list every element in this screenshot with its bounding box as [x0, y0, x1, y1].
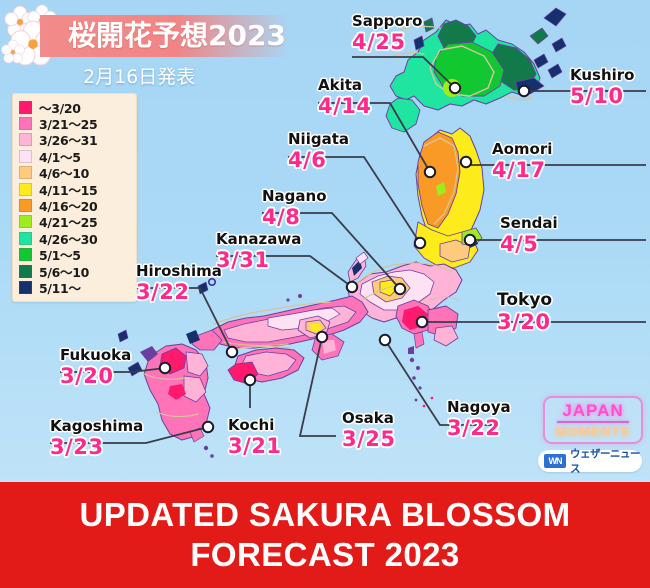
legend-item: 4/16〜20 [19, 197, 132, 213]
legend-swatch [19, 117, 32, 130]
callout-nagano: Nagano 4/8 [262, 189, 327, 228]
callout-akita: Akita 4/14 [318, 78, 372, 117]
legend-item: 〜3/20 [19, 99, 132, 115]
city-bloom-date: 3/22 [136, 281, 222, 303]
city-bloom-date: 3/25 [342, 428, 396, 450]
city-bloom-date: 4/17 [492, 159, 552, 181]
callout-aomori: Aomori 4/17 [492, 142, 552, 181]
callout-kagoshima: Kagoshima 3/23 [50, 419, 143, 458]
map-panel: 桜開花予想2023 2月16日発表 〜3/20 3/21〜25 3/26〜31 … [0, 0, 650, 482]
region-honshu-central [348, 252, 462, 407]
city-name: Nagano [262, 189, 327, 205]
legend-item: 4/21〜25 [19, 214, 132, 230]
legend-swatch [19, 133, 32, 146]
city-bloom-date: 4/6 [288, 149, 349, 171]
city-bloom-date: 4/25 [352, 31, 422, 53]
city-name: Kochi [228, 418, 282, 434]
city-name: Akita [318, 78, 372, 94]
legend-swatch [19, 101, 32, 114]
callout-nagoya: Nagoya 3/22 [447, 400, 511, 439]
legend-item: 4/6〜10 [19, 165, 132, 181]
legend-swatch [19, 215, 32, 228]
callout-kochi: Kochi 3/21 [228, 418, 282, 457]
city-name: Nagoya [447, 400, 511, 416]
city-bloom-date: 3/22 [447, 417, 511, 439]
city-name: Niigata [288, 132, 349, 148]
city-name: Fukuoka [60, 348, 131, 364]
city-name: Osaka [342, 411, 396, 427]
legend-item: 4/11〜15 [19, 181, 132, 197]
region-shikoku [228, 346, 304, 384]
bottom-banner: UPDATED SAKURA BLOSSOM FORECAST 2023 [0, 482, 650, 588]
legend-swatch [19, 281, 32, 294]
city-bloom-date: 4/8 [262, 206, 327, 228]
page-title: 桜開花予想2023 [68, 22, 286, 50]
legend-item: 5/11〜 [19, 279, 132, 295]
japan-moments-japan-text: JAPAN [562, 402, 623, 419]
callout-kanazawa: Kanazawa 3/31 [216, 232, 301, 271]
legend-item: 3/26〜31 [19, 132, 132, 148]
weathernews-label: ウェザーニュース [570, 446, 642, 476]
city-bloom-date: 5/10 [570, 85, 635, 107]
callout-sapporo: Sapporo 4/25 [352, 14, 422, 53]
callout-tokyo: Tokyo 3/20 [497, 292, 552, 333]
callout-osaka: Osaka 3/25 [342, 411, 396, 450]
city-bloom-date: 3/21 [228, 435, 282, 457]
callout-sendai: Sendai 4/5 [500, 216, 558, 255]
legend-swatch [19, 199, 32, 212]
city-name: Hiroshima [136, 264, 222, 280]
city-name: Kagoshima [50, 419, 143, 435]
legend-swatch [19, 248, 32, 261]
legend-swatch [19, 183, 32, 196]
legend-item: 5/1〜5 [19, 247, 132, 263]
city-bloom-date: 3/20 [497, 311, 552, 333]
city-name: Sapporo [352, 14, 422, 30]
weathernews-mark-icon: WN [544, 454, 566, 468]
city-name: Kanazawa [216, 232, 301, 248]
city-bloom-date: 3/20 [60, 365, 131, 387]
city-bloom-date: 4/14 [318, 95, 372, 117]
callout-fukuoka: Fukuoka 3/20 [60, 348, 131, 387]
sakura-forecast-infographic: 桜開花予想2023 2月16日発表 〜3/20 3/21〜25 3/26〜31 … [0, 0, 650, 588]
japan-moments-logo: JAPAN MOMENTS [543, 396, 643, 444]
legend-swatch [19, 150, 32, 163]
legend-swatch [19, 265, 32, 278]
publish-date-subtitle: 2月16日発表 [83, 62, 195, 89]
legend-label: 5/11〜 [39, 278, 81, 297]
region-tohoku [414, 128, 484, 268]
callout-kushiro: Kushiro 5/10 [570, 68, 635, 107]
legend-item: 4/1〜5 [19, 148, 132, 164]
city-bloom-date: 3/23 [50, 436, 143, 458]
city-name: Sendai [500, 216, 558, 232]
banner-line-1: UPDATED SAKURA BLOSSOM [80, 495, 571, 535]
callout-niigata: Niigata 4/6 [288, 132, 349, 171]
city-bloom-date: 4/5 [500, 233, 558, 255]
legend-item: 4/26〜30 [19, 230, 132, 246]
city-name: Tokyo [497, 292, 552, 310]
bloom-date-legend: 〜3/20 3/21〜25 3/26〜31 4/1〜5 4/6〜10 4/11〜… [12, 93, 137, 302]
legend-swatch [19, 232, 32, 245]
japan-moments-divider [557, 421, 629, 423]
legend-swatch [19, 166, 32, 179]
weathernews-logo: WN ウェザーニュース [538, 450, 642, 472]
legend-item: 3/21〜25 [19, 115, 132, 131]
city-name: Kushiro [570, 68, 635, 84]
japan-moments-moments-text: MOMENTS [556, 425, 631, 438]
city-bloom-date: 3/31 [216, 249, 301, 271]
callout-hiroshima: Hiroshima 3/22 [136, 264, 222, 303]
banner-line-2: FORECAST 2023 [190, 535, 459, 575]
title-banner: 桜開花予想2023 [40, 15, 290, 57]
legend-item: 5/6〜10 [19, 263, 132, 279]
city-name: Aomori [492, 142, 552, 158]
